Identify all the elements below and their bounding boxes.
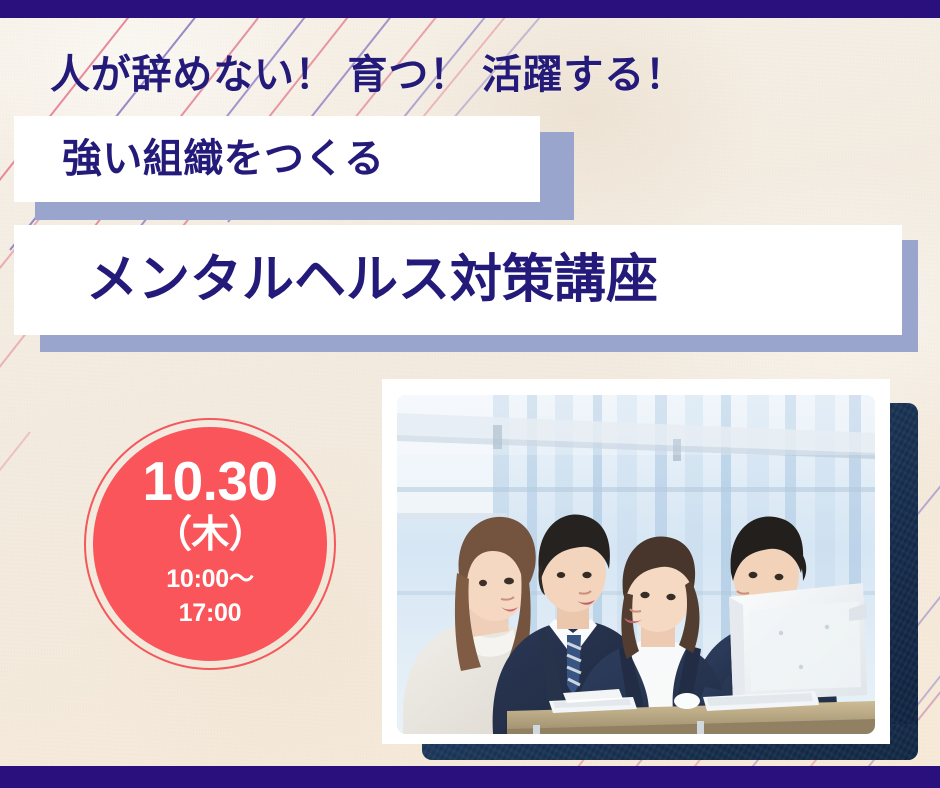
photo-image	[397, 395, 875, 734]
title-band-primary-text: 強い組織をつくる	[62, 139, 384, 179]
bottom-accent-bar	[0, 766, 940, 788]
title-band-primary-plate: 強い組織をつくる	[14, 116, 540, 202]
title-band-secondary: メンタルヘルス対策講座	[0, 218, 940, 358]
date-badge-time-start: 10:00〜	[166, 563, 253, 596]
page-headline: 人が辞めない！ 育つ！ 活躍する！	[50, 42, 686, 100]
title-band-secondary-plate: メンタルヘルス対策講座	[14, 225, 902, 335]
photo-shadow-right	[890, 403, 918, 760]
title-band-primary: 強い組織をつくる	[0, 110, 600, 220]
top-accent-bar	[0, 0, 940, 18]
photo-frame	[382, 379, 890, 744]
date-badge-date: 10.30	[143, 454, 278, 509]
date-badge-weekday: （木）	[154, 515, 266, 557]
photo-block	[382, 379, 918, 760]
date-badge-time-end: 17:00	[179, 597, 242, 630]
date-badge: 10.30 （木） 10:00〜 17:00	[84, 418, 336, 670]
poster-canvas: 人が辞めない！ 育つ！ 活躍する！ 強い組織をつくる メンタルヘルス対策講座 1…	[0, 0, 940, 788]
title-band-secondary-text: メンタルヘルス対策講座	[86, 254, 658, 306]
date-badge-disc: 10.30 （木） 10:00〜 17:00	[93, 427, 327, 661]
